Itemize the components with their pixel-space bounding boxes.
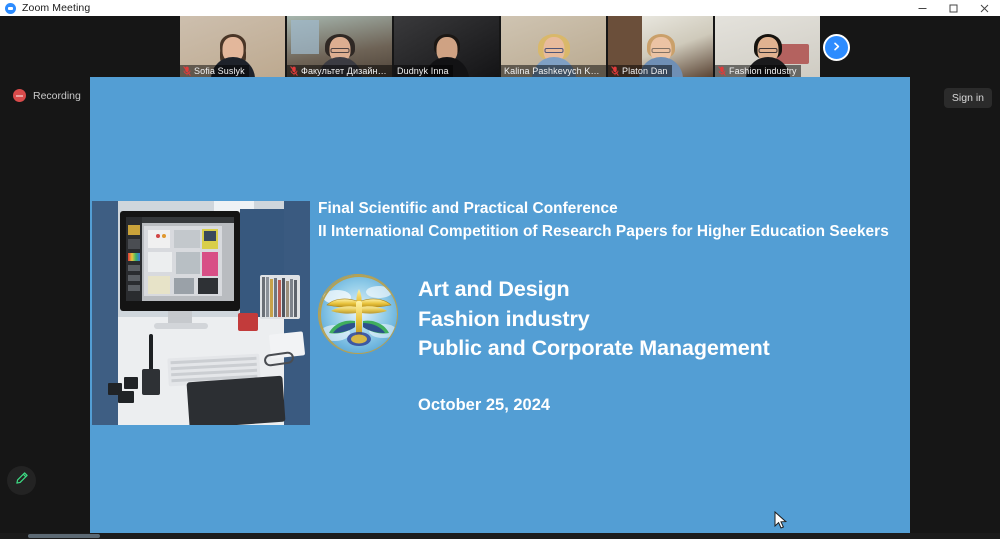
participant-tile[interactable]: Факультет Дизайну К... [287,16,392,77]
mic-muted-icon [183,66,191,76]
slide-topic: Art and Design [418,275,770,305]
slide-heading-line1: Final Scientific and Practical Conferenc… [318,197,908,220]
maximize-icon[interactable] [938,0,969,16]
zoom-meeting-window: Sofia Suslyk Факультет Дизайну К... [0,16,1000,539]
slide-topic: Fashion industry [418,305,770,335]
participant-name: Fashion industry [729,66,797,76]
pencil-icon [14,471,29,491]
sign-in-button[interactable]: Sign in [944,88,992,108]
participant-tile[interactable]: Kalina Pashkevych KNUTD... [501,16,606,77]
close-icon[interactable] [969,0,1000,16]
slide-date: October 25, 2024 [418,396,550,415]
participant-name: Platon Dan [622,66,668,76]
participant-tile[interactable]: Platon Dan [608,16,713,77]
annotate-button[interactable] [7,466,36,495]
window-controls [907,0,1000,16]
participant-filmstrip: Sofia Suslyk Факультет Дизайну К... [0,16,1000,78]
horizontal-scrollbar[interactable] [0,533,1000,539]
participant-name-bar: Platon Dan [608,65,672,77]
participant-tile[interactable]: Sofia Suslyk [180,16,285,77]
participant-name: Факультет Дизайну К... [301,66,388,76]
mic-muted-icon [718,66,726,76]
shared-screen-slide[interactable]: Final Scientific and Practical Conferenc… [90,77,910,532]
slide-heading-line2: II International Competition of Research… [318,220,908,243]
participant-name-bar: Sofia Suslyk [180,65,249,77]
university-emblem-icon [318,274,398,354]
participant-name-bar: Факультет Дизайну К... [287,65,392,77]
mic-muted-icon [611,66,619,76]
participant-name-bar: Fashion industry [715,65,801,77]
participant-name-bar: Kalina Pashkevych KNUTD... [501,65,606,77]
slide-topic: Public and Corporate Management [418,334,770,364]
window-title-bar: Zoom Meeting [0,0,1000,16]
recording-indicator[interactable]: Recording [8,86,86,105]
recording-stop-icon [13,89,26,102]
zoom-logo-icon [5,3,16,14]
mic-muted-icon [290,66,298,76]
designer-desk-photo [92,201,310,425]
window-title: Zoom Meeting [22,2,90,14]
slide-heading: Final Scientific and Practical Conferenc… [318,197,908,243]
participant-tile[interactable]: Fashion industry [715,16,820,77]
chevron-right-icon [831,39,842,57]
participant-name-bar: Dudnyk Inna [394,65,453,77]
slide-topics-list: Art and Design Fashion industry Public a… [418,275,770,364]
participant-name: Kalina Pashkevych KNUTD... [504,66,602,76]
horizontal-scrollbar-thumb[interactable] [28,534,100,538]
filmstrip-next-button[interactable] [823,34,850,61]
participant-name: Dudnyk Inna [397,66,449,76]
minimize-icon[interactable] [907,0,938,16]
recording-label: Recording [33,90,81,102]
participant-tile[interactable]: Dudnyk Inna [394,16,499,77]
participant-name: Sofia Suslyk [194,66,245,76]
